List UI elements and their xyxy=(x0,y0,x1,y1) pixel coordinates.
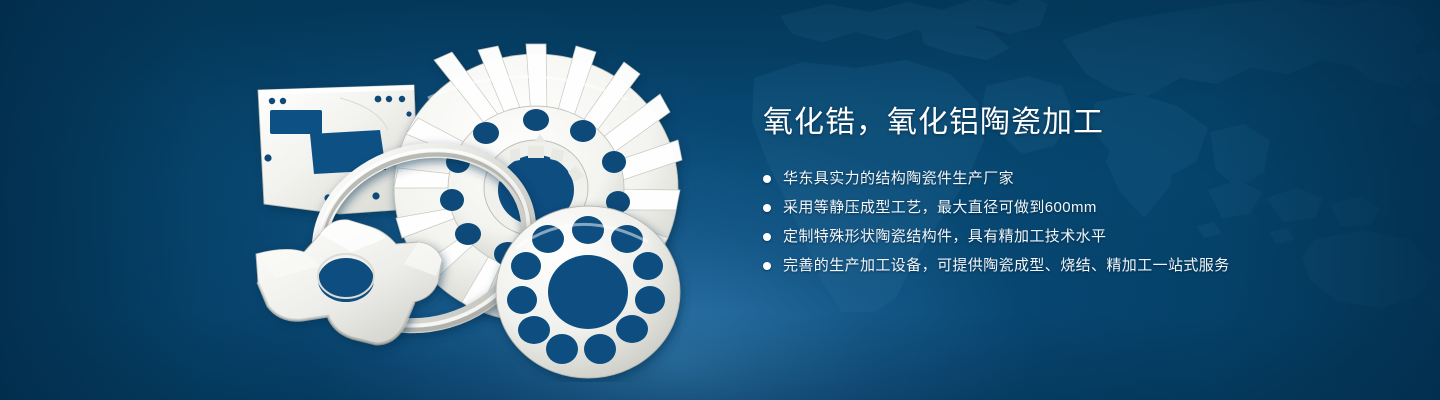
list-item: 采用等静压成型工艺，最大直径可做到600mm xyxy=(763,199,1323,217)
bullet-dot-icon xyxy=(763,262,771,270)
list-item: 完善的生产加工设备，可提供陶瓷成型、烧结、精加工一站式服务 xyxy=(763,257,1323,275)
feature-text: 定制特殊形状陶瓷结构件，具有精加工技术水平 xyxy=(783,228,1106,246)
banner-copy: 氧化锆，氧化铝陶瓷加工 华东具实力的结构陶瓷件生产厂家 采用等静压成型工艺，最大… xyxy=(763,104,1323,286)
ceramic-processing-banner: 氧化锆，氧化铝陶瓷加工 华东具实力的结构陶瓷件生产厂家 采用等静压成型工艺，最大… xyxy=(0,0,1440,400)
bullet-dot-icon xyxy=(763,204,771,212)
feature-list: 华东具实力的结构陶瓷件生产厂家 采用等静压成型工艺，最大直径可做到600mm 定… xyxy=(763,170,1323,275)
page-title: 氧化锆，氧化铝陶瓷加工 xyxy=(763,104,1323,142)
feature-text: 完善的生产加工设备，可提供陶瓷成型、烧结、精加工一站式服务 xyxy=(783,257,1230,275)
bullet-dot-icon xyxy=(763,233,771,241)
list-item: 定制特殊形状陶瓷结构件，具有精加工技术水平 xyxy=(763,228,1323,246)
ceramic-products-group xyxy=(228,38,698,382)
list-item: 华东具实力的结构陶瓷件生产厂家 xyxy=(763,170,1323,188)
feature-text: 采用等静压成型工艺，最大直径可做到600mm xyxy=(783,199,1097,217)
ceramic-perforated-disc-part xyxy=(496,206,680,378)
feature-text: 华东具实力的结构陶瓷件生产厂家 xyxy=(783,170,1014,188)
bullet-dot-icon xyxy=(763,175,771,183)
